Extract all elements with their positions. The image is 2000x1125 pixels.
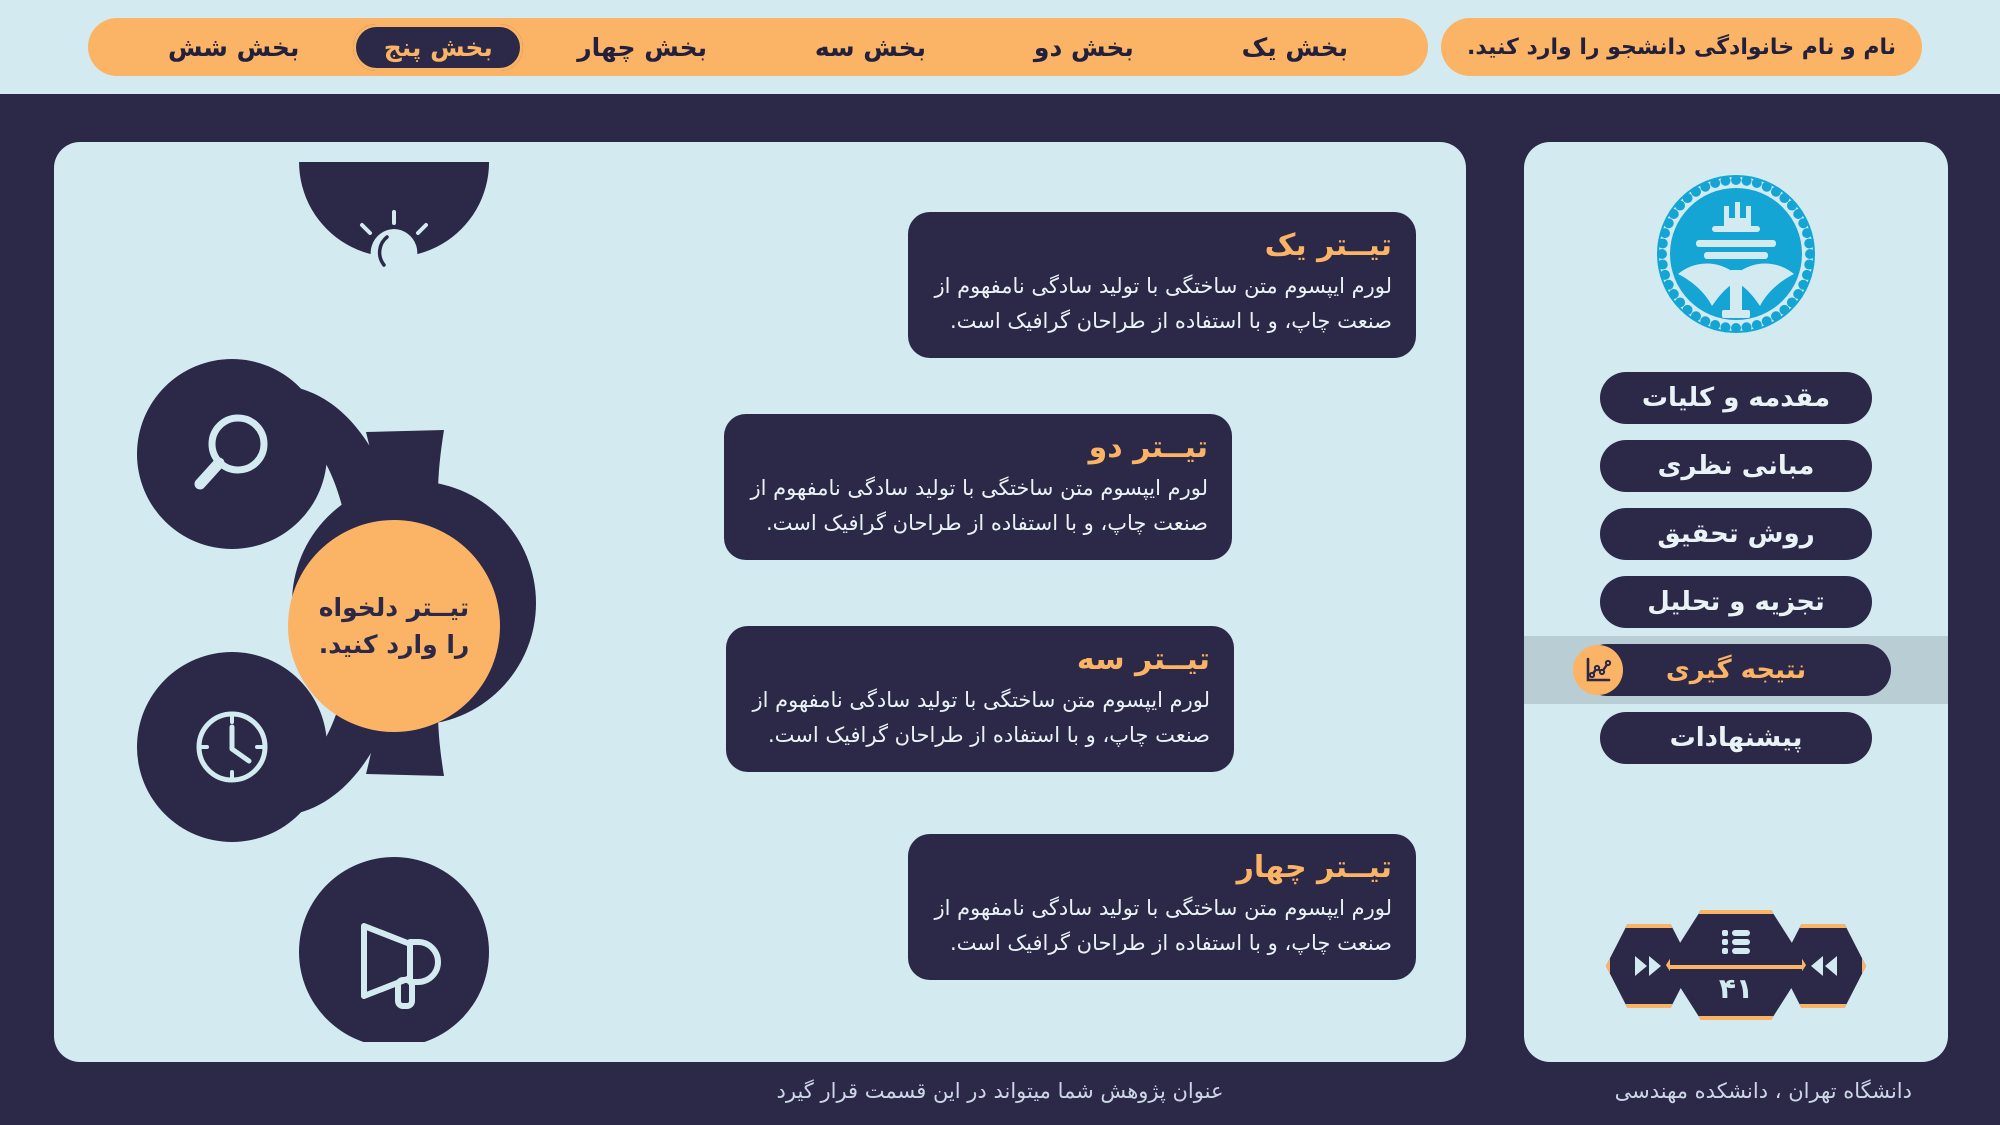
- sidebar-row-5-active: نتیجه گیری: [1524, 636, 1948, 704]
- pagination-control: ۴۱: [1606, 910, 1866, 1020]
- presentation-slide: نام و نام خانوادگی دانشجو را وارد کنید. …: [0, 0, 2000, 1125]
- card-body: لورم ایپسوم متن ساختگی با تولید سادگی نا…: [932, 891, 1392, 960]
- sidebar-row-3: روش تحقیق: [1524, 500, 1948, 568]
- section-nav: بخش یک بخش دو بخش سه بخش چهار بخش پنج بخ…: [88, 18, 1428, 76]
- pager-divider: [1666, 965, 1806, 969]
- page-number: ۴۱: [1719, 972, 1753, 1005]
- content-card-3[interactable]: تیــتر سه لورم ایپسوم متن ساختگی با تولی…: [726, 626, 1234, 772]
- card-body: لورم ایپسوم متن ساختگی با تولید سادگی نا…: [932, 269, 1392, 338]
- nav-item-4[interactable]: بخش چهار: [523, 24, 761, 71]
- sidebar-item-label: مقدمه و کلیات: [1642, 383, 1830, 413]
- sidebar-item-label: تجزیه و تحلیل: [1647, 587, 1824, 617]
- sidebar-item-label: نتیجه گیری: [1666, 655, 1806, 685]
- sidebar-item-suggestions[interactable]: پیشنهادات: [1600, 712, 1872, 764]
- list-icon: [1716, 926, 1756, 962]
- footer-affiliation: دانشگاه تهران ، دانشکده مهندسی: [1615, 1079, 1912, 1103]
- sidebar-item-label: مبانی نظری: [1658, 451, 1815, 481]
- sidebar-item-conclusion[interactable]: نتیجه گیری: [1581, 644, 1891, 696]
- sidebar-row-4: تجزیه و تحلیل: [1524, 568, 1948, 636]
- sidebar-menu: مقدمه و کلیات مبانی نظری روش تحقیق تجزیه…: [1524, 364, 1948, 772]
- slide-index-button[interactable]: ۴۱: [1666, 910, 1806, 1020]
- sidebar-item-introduction[interactable]: مقدمه و کلیات: [1600, 372, 1872, 424]
- content-cards: تیــتر یک لورم ایپسوم متن ساختگی با تولی…: [826, 142, 1466, 1062]
- sidebar-row-1: مقدمه و کلیات: [1524, 364, 1948, 432]
- clock-icon: [199, 714, 265, 780]
- card-body: لورم ایپسوم متن ساختگی با تولید سادگی نا…: [748, 471, 1208, 540]
- university-of-tehran-logo: [1652, 170, 1820, 338]
- sidebar-item-theoretical-basis[interactable]: مبانی نظری: [1600, 440, 1872, 492]
- sidebar: مقدمه و کلیات مبانی نظری روش تحقیق تجزیه…: [1524, 142, 1948, 1062]
- diagram-center-title[interactable]: تیــتر دلخواه را وارد کنید.: [288, 520, 500, 732]
- sidebar-row-6: پیشنهادات: [1524, 704, 1948, 772]
- blob-diagram: تیــتر دلخواه را وارد کنید.: [84, 162, 724, 1042]
- nav-item-3[interactable]: بخش سه: [761, 24, 980, 71]
- nav-item-2[interactable]: بخش دو: [980, 24, 1188, 71]
- nav-item-1[interactable]: بخش یک: [1188, 24, 1402, 71]
- nav-item-5-active[interactable]: بخش پنج: [353, 24, 523, 71]
- card-title: تیــتر سه: [750, 642, 1210, 677]
- content-card-4[interactable]: تیــتر چهار لورم ایپسوم متن ساختگی با تو…: [908, 834, 1416, 980]
- nav-item-6[interactable]: بخش شش: [114, 24, 353, 71]
- sidebar-item-analysis[interactable]: تجزیه و تحلیل: [1600, 576, 1872, 628]
- sidebar-item-research-method[interactable]: روش تحقیق: [1600, 508, 1872, 560]
- content-card-2[interactable]: تیــتر دو لورم ایپسوم متن ساختگی با تولی…: [724, 414, 1232, 560]
- sidebar-row-2: مبانی نظری: [1524, 432, 1948, 500]
- card-title: تیــتر دو: [748, 430, 1208, 465]
- card-body: لورم ایپسوم متن ساختگی با تولید سادگی نا…: [750, 683, 1210, 752]
- sidebar-item-label: روش تحقیق: [1657, 519, 1814, 549]
- card-title: تیــتر چهار: [932, 850, 1392, 885]
- header-bar: نام و نام خانوادگی دانشجو را وارد کنید. …: [0, 0, 2000, 94]
- card-title: تیــتر یک: [932, 228, 1392, 263]
- sidebar-item-label: پیشنهادات: [1670, 723, 1803, 753]
- student-name-input[interactable]: نام و نام خانوادگی دانشجو را وارد کنید.: [1441, 18, 1922, 76]
- content-card-1[interactable]: تیــتر یک لورم ایپسوم متن ساختگی با تولی…: [908, 212, 1416, 358]
- line-chart-icon: [1573, 645, 1623, 695]
- main-panel: تیــتر دلخواه را وارد کنید. تیــتر یک لو…: [54, 142, 1466, 1062]
